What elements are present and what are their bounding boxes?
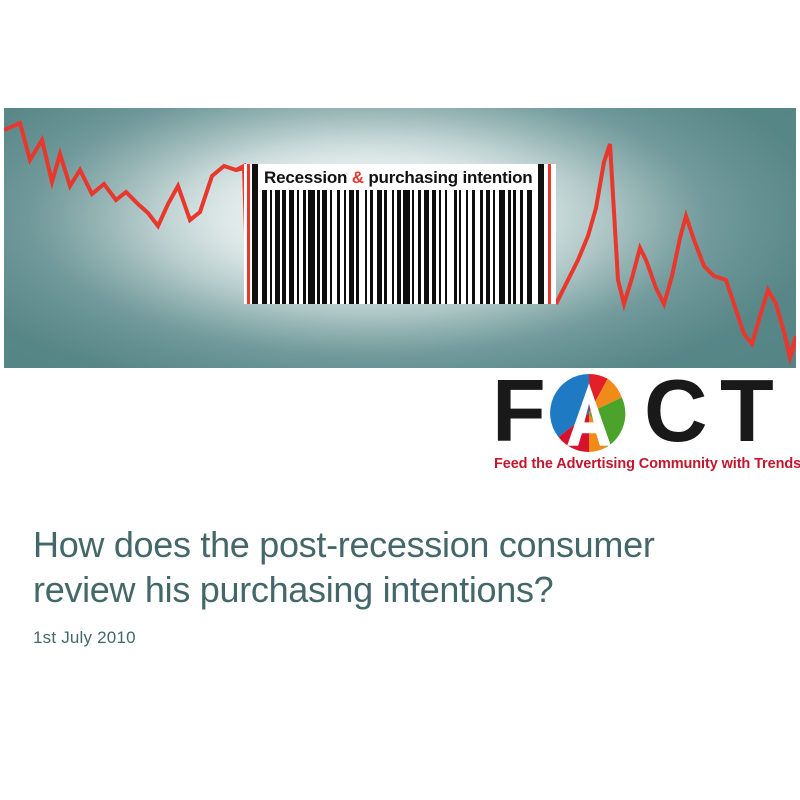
- logo-tagline: Feed the Advertising Community with Tren…: [494, 454, 794, 474]
- barcode-graphic: Recession & purchasing intention: [244, 164, 556, 304]
- barcode-cap-right: [538, 164, 544, 304]
- barcode-bar: [532, 190, 534, 304]
- page-date: 1st July 2010: [33, 626, 136, 650]
- barcode-edge-right-red: [548, 164, 551, 304]
- barcode-caption-prefix: Recession: [264, 168, 352, 187]
- trend-line-left: [4, 123, 244, 226]
- logo-letter-t: T: [720, 368, 772, 454]
- barcode-edge-left-red: [247, 164, 250, 304]
- a-mark-segments: [550, 374, 625, 452]
- fact-wordmark: F C T: [492, 368, 794, 454]
- barcode-cap-left: [252, 164, 258, 304]
- banner-image: Recession & purchasing intention: [4, 108, 796, 368]
- barcode-caption-suffix: purchasing intention: [364, 168, 533, 187]
- logo-letter-c: C: [644, 368, 706, 454]
- barcode-caption: Recession & purchasing intention: [264, 166, 536, 190]
- barcode-caption-ampersand: &: [352, 168, 364, 187]
- fact-logo: F C T Feed the Advertising Community wit…: [492, 368, 794, 480]
- page-title: How does the post-recession consumer rev…: [33, 522, 753, 612]
- logo-letter-a-mark: [550, 374, 628, 452]
- barcode-bars: [262, 190, 534, 304]
- trend-line-right: [556, 144, 796, 356]
- logo-letter-f: F: [492, 368, 544, 454]
